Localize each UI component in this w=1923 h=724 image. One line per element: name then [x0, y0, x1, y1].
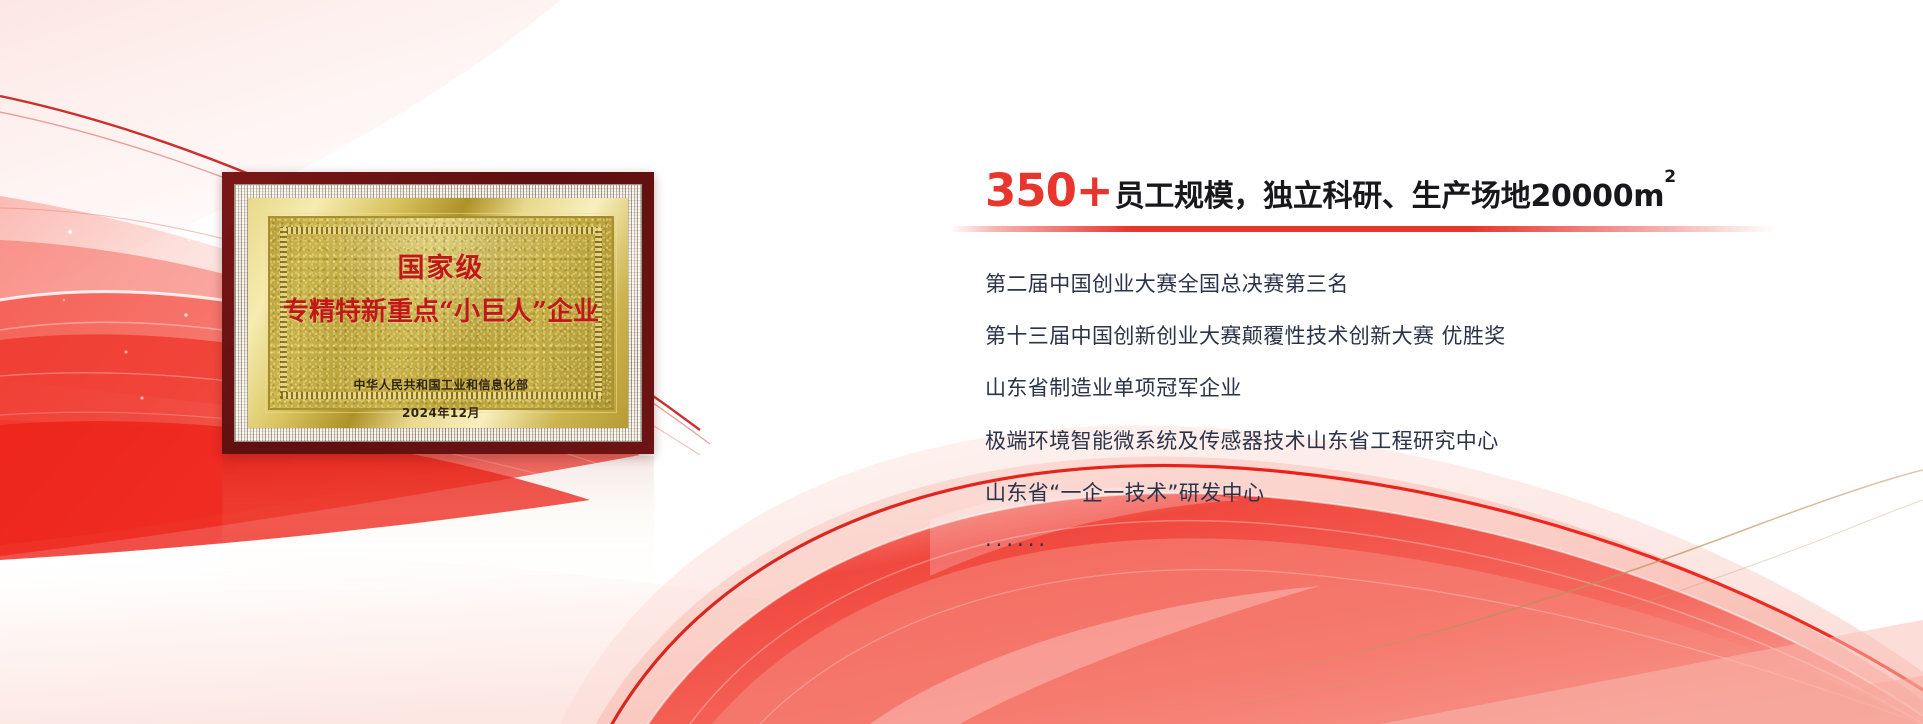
award-list-item: 第十三届中国创新创业大赛颠覆性技术创新大赛 优胜奖 — [985, 324, 1885, 349]
plaque-text-block: 国家级 专精特新重点“小巨人”企业 中华人民共和国工业和信息化部 2024年12… — [270, 218, 612, 408]
banner-stage: 国家级 专精特新重点“小巨人”企业 中华人民共和国工业和信息化部 2024年12… — [0, 0, 1923, 724]
headline-metric-text: 员工规模，独立科研、生产场地20000m2 — [1115, 182, 1676, 212]
award-list-item: 山东省制造业单项冠军企业 — [985, 376, 1885, 401]
award-list-item: 第二届中国创业大赛全国总决赛第三名 — [985, 272, 1885, 297]
plaque-reflection — [222, 456, 654, 606]
plaque-title-line-1: 国家级 — [398, 254, 485, 284]
plaque-frame: 国家级 专精特新重点“小巨人”企业 中华人民共和国工业和信息化部 2024年12… — [222, 172, 654, 454]
headline-metric-body: 员工规模，独立科研、生产场地20000m — [1115, 179, 1665, 214]
plaque-date: 2024年12月 — [402, 404, 480, 421]
headline-underline-rule — [950, 226, 1775, 232]
award-list-ellipsis: ······ — [985, 533, 1885, 558]
award-list-item: 山东省“一企一技术”研发中心 — [985, 481, 1885, 506]
headline-metric-number: 350+ — [985, 168, 1113, 213]
headline-superscript: 2 — [1664, 167, 1676, 187]
plaque-gold-face: 国家级 专精特新重点“小巨人”企业 中华人民共和国工业和信息化部 2024年12… — [268, 216, 614, 410]
plaque-issuer: 中华人民共和国工业和信息化部 — [353, 376, 528, 393]
award-plaque: 国家级 专精特新重点“小巨人”企业 中华人民共和国工业和信息化部 2024年12… — [222, 172, 654, 454]
headline: 350+ 员工规模，独立科研、生产场地20000m2 — [985, 168, 1885, 213]
award-list: 第二届中国创业大赛全国总决赛第三名 第十三届中国创新创业大赛颠覆性技术创新大赛 … — [985, 272, 1885, 558]
plaque-title-line-2: 专精特新重点“小巨人”企业 — [283, 298, 599, 327]
award-list-item: 极端环境智能微系统及传感器技术山东省工程研究中心 — [985, 429, 1885, 454]
content-column: 350+ 员工规模，独立科研、生产场地20000m2 第二届中国创业大赛全国总决… — [985, 168, 1885, 558]
